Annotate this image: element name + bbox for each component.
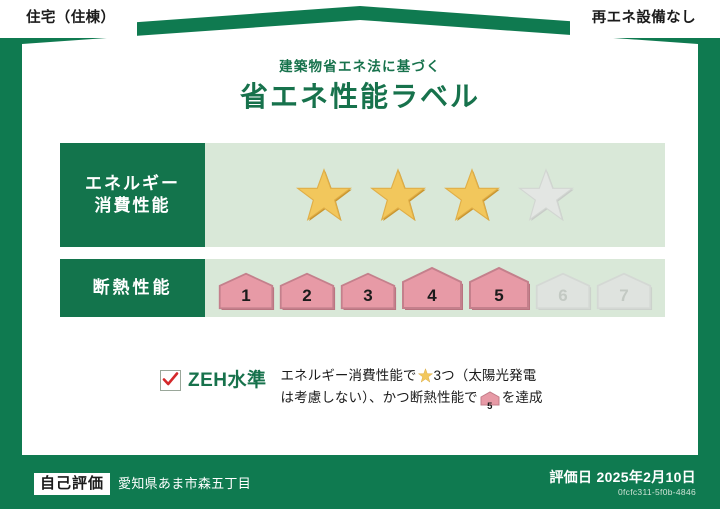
zeh-standard-label: ZEH水準: [188, 371, 267, 390]
insulation-level-badge: 6: [534, 272, 592, 310]
title-block: 建築物省エネ法に基づく 省エネ性能ラベル: [0, 60, 720, 111]
insulation-level-badge: 7: [595, 272, 653, 310]
building-type-tag: 住宅（住棟）: [0, 0, 137, 38]
zeh-checkbox-group: ZEH水準: [160, 365, 267, 391]
insulation-level-value: 1: [217, 287, 275, 304]
insulation-performance-label: 断熱性能: [60, 259, 205, 317]
footer-right-group: 評価日 2025年2月10日 0fcfc311-5f0b-4846: [549, 470, 696, 499]
energy-performance-label: エネルギー 消費性能: [60, 143, 205, 247]
evaluation-type-badge: 自己評価: [34, 473, 110, 495]
insulation-level-badge: 4: [400, 266, 464, 310]
zeh-desc-line2-post: を達成: [502, 390, 543, 405]
evaluation-date-label: 評価日: [549, 469, 592, 485]
insulation-level-badge: 1: [217, 272, 275, 310]
star-filled-icon: [296, 168, 352, 222]
zeh-desc-line1-pre: エネルギー消費性能で: [281, 368, 417, 383]
insulation-level-value: 5: [467, 287, 531, 304]
check-icon: [162, 371, 179, 388]
zeh-desc-line2-pre: は考慮しない）、かつ断熱性能で: [281, 390, 478, 405]
zeh-desc-line1-post: 3つ（太陽光発電: [434, 368, 537, 383]
label-footer: 自己評価 愛知県あま市森五丁目 評価日 2025年2月10日 0fcfc311-…: [0, 455, 720, 509]
insulation-level-value: 7: [595, 287, 653, 304]
star-filled-icon: [370, 168, 426, 222]
zeh-description: エネルギー消費性能で3つ（太陽光発電 は考慮しない）、かつ断熱性能で5を達成: [281, 365, 630, 413]
title-subtitle: 建築物省エネ法に基づく: [0, 60, 720, 74]
footer-left-group: 自己評価 愛知県あま市森五丁目: [34, 473, 251, 495]
insulation-level-value: 4: [400, 287, 464, 304]
insulation-level-badge: 2: [278, 272, 336, 310]
property-address: 愛知県あま市森五丁目: [118, 477, 251, 490]
insulation-level-badge: 3: [339, 272, 397, 310]
inline-level-value: 5: [480, 402, 500, 412]
evaluation-date-value: 2025年2月10日: [596, 469, 696, 485]
page-title: 省エネ性能ラベル: [0, 83, 720, 111]
star-filled-icon: [444, 168, 500, 222]
insulation-level-value: 3: [339, 287, 397, 304]
energy-performance-row: エネルギー 消費性能: [60, 143, 665, 247]
insulation-level-value: 6: [534, 287, 592, 304]
zeh-block: ZEH水準 エネルギー消費性能で3つ（太陽光発電 は考慮しない）、かつ断熱性能で…: [160, 365, 630, 413]
insulation-performance-row: 断熱性能 1234567: [60, 259, 665, 317]
renewable-energy-tag: 再エネ設備なし: [570, 0, 720, 38]
document-id: 0fcfc311-5f0b-4846: [549, 487, 696, 499]
inline-star-icon: [418, 368, 433, 383]
insulation-level-badge: 5: [467, 266, 531, 310]
energy-label-line1: エネルギー: [85, 173, 180, 195]
star-empty-icon: [518, 168, 574, 222]
insulation-level-value: 2: [278, 287, 336, 304]
energy-performance-label: 住宅（住棟） 再エネ設備なし 建築物省エネ法に基づく 省エネ性能ラベル エネルギ…: [0, 0, 720, 509]
star-rating: [205, 143, 665, 247]
energy-label-line2: 消費性能: [95, 195, 171, 217]
inline-level-badge: 5: [480, 391, 500, 413]
insulation-scale: 1234567: [205, 259, 665, 317]
zeh-checkbox[interactable]: [160, 370, 181, 391]
evaluation-date: 評価日 2025年2月10日: [549, 470, 696, 485]
